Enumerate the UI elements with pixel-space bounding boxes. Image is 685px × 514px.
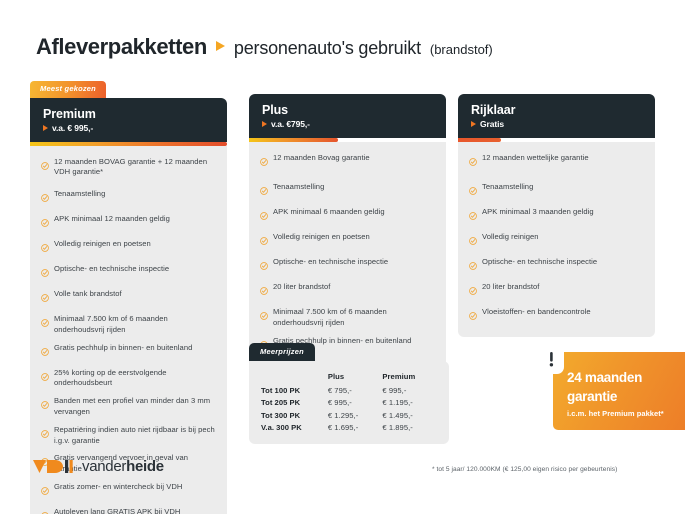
feature-text: Vloeistoffen- en bandencontrole [482,307,591,318]
check-circle-icon [260,207,268,225]
feature-item: Volledig reinigen [469,232,643,250]
check-circle-icon [41,189,49,207]
feature-text: APK minimaal 6 maanden geldig [273,207,385,218]
row-label: V.a. 300 PK [261,421,328,433]
feature-item: Volledig reinigen en poetsen [41,239,215,257]
card-header: Rijklaar Gratis [458,94,655,138]
page-title: Afleverpakketten [36,34,207,60]
check-circle-icon [41,214,49,232]
check-circle-icon [41,368,49,386]
feature-text: Minimaal 7.500 km of 6 maanden onderhoud… [273,307,434,329]
feature-text: Volledig reinigen [482,232,539,243]
feature-text: Tenaamstelling [482,182,533,193]
feature-item: Gratis pechhulp in binnen- en buitenland [41,343,215,361]
footer-logo: vanderheide [33,458,164,475]
feature-text: 20 liter brandstof [482,282,539,293]
guarantee-title-line2: garantie [567,389,675,404]
feature-text: 12 maanden Bovag garantie [273,153,370,164]
page-subtitle-paren: (brandstof) [430,42,493,57]
surcharge-tab-label: Meerprijzen [249,343,315,361]
accent-track [30,142,227,146]
feature-text: 12 maanden wettelijke garantie [482,153,589,164]
feature-text: Tenaamstelling [273,182,324,193]
package-price: v.a. €795,- [271,119,310,129]
table-row: Tot 300 PK€ 1.295,-€ 1.495,- [261,409,437,421]
package-price-row: v.a. € 995,- [43,123,215,133]
vdh-logo-icon [33,458,73,475]
accent-track [249,138,446,142]
package-price: Gratis [480,119,504,129]
feature-item: 12 maanden BOVAG garantie + 12 maanden V… [41,157,215,179]
feature-text: Autoleven lang GRATIS APK bij VDH [54,507,180,514]
logo-wordmark: vanderheide [82,458,164,475]
accent-bar [30,142,227,146]
feature-item: Minimaal 7.500 km of 6 maanden onderhoud… [260,307,434,329]
feature-text: Volledig reinigen en poetsen [54,239,151,250]
check-circle-icon [41,425,49,443]
feature-list: 12 maanden wettelijke garantieTenaamstel… [458,142,655,337]
cell-premium: € 1.495,- [382,409,437,421]
feature-item: Banden met een profiel van minder dan 3 … [41,396,215,418]
most-chosen-ribbon: Meest gekozen [30,81,106,98]
feature-text: Volle tank brandstof [54,289,122,300]
check-circle-icon [41,507,49,514]
package-name: Plus [262,103,434,117]
exclamation-mark-icon [539,344,564,374]
feature-item: 12 maanden wettelijke garantie [469,153,643,171]
surcharge-table: Plus Premium Tot 100 PK€ 795,-€ 995,-Tot… [261,370,437,433]
package-price-row: v.a. €795,- [262,119,434,129]
feature-item: 20 liter brandstof [469,282,643,300]
check-circle-icon [41,264,49,282]
check-circle-icon [469,282,477,300]
page-header: Afleverpakketten personenauto's gebruikt… [36,34,493,60]
cell-plus: € 995,- [328,397,383,409]
check-circle-icon [41,482,49,500]
feature-text: Optische- en technische inspectie [482,257,597,268]
surcharge-table-block: Meerprijzen Plus Premium Tot 100 PK€ 795… [249,341,449,444]
accent-bar [458,138,501,142]
feature-item: Volle tank brandstof [41,289,215,307]
triangle-right-icon [262,121,267,127]
feature-item: Optische- en technische inspectie [260,257,434,275]
logo-word-light: vander [82,458,126,475]
surcharge-table-body: Plus Premium Tot 100 PK€ 795,-€ 995,-Tot… [249,361,449,444]
check-circle-icon [469,257,477,275]
feature-text: Gratis pechhulp in binnen- en buitenland [54,343,192,354]
ribbon-spacer [458,78,655,94]
feature-text: Volledig reinigen en poetsen [273,232,370,243]
feature-item: Volledig reinigen en poetsen [260,232,434,250]
feature-item: Optische- en technische inspectie [469,257,643,275]
check-circle-icon [469,307,477,325]
row-label: Tot 300 PK [261,409,328,421]
ribbon-spacer [249,78,446,94]
cell-premium: € 1.195,- [382,397,437,409]
check-circle-icon [41,396,49,414]
table-header-row: Plus Premium [261,370,437,385]
triangle-right-icon [43,125,48,131]
table-body: Tot 100 PK€ 795,-€ 995,-Tot 205 PK€ 995,… [261,385,437,434]
package-price: v.a. € 995,- [52,123,93,133]
package-price-row: Gratis [471,119,643,129]
accent-track [458,138,655,142]
table-row: Tot 100 PK€ 795,-€ 995,- [261,385,437,397]
cell-plus: € 1.695,- [328,421,383,433]
feature-item: APK minimaal 6 maanden geldig [260,207,434,225]
feature-item: Repatriëring indien auto niet rijdbaar i… [41,425,215,447]
feature-item: Tenaamstelling [41,189,215,207]
check-circle-icon [41,314,49,332]
table-row: Tot 205 PK€ 995,-€ 1.195,- [261,397,437,409]
guarantee-subtitle: i.c.m. het Premium pakket* [567,409,675,418]
cell-premium: € 995,- [382,385,437,397]
feature-text: Optische- en technische inspectie [54,264,169,275]
logo-word-bold: heide [126,458,164,475]
page-subtitle: personenauto's gebruikt [234,38,421,59]
package-name: Rijklaar [471,103,643,117]
check-circle-icon [41,157,49,175]
feature-text: Gratis zomer- en wintercheck bij VDH [54,482,182,493]
check-circle-icon [469,153,477,171]
col-head-plus: Plus [328,370,383,385]
col-head-premium: Premium [382,370,437,385]
package-name: Premium [43,107,215,121]
feature-text: 12 maanden BOVAG garantie + 12 maanden V… [54,157,215,179]
guarantee-title-line1: 24 maanden [567,370,675,385]
check-circle-icon [469,182,477,200]
table-row: V.a. 300 PK€ 1.695,-€ 1.895,- [261,421,437,433]
feature-item: Gratis zomer- en wintercheck bij VDH [41,482,215,500]
card-header: Premium v.a. € 995,- [30,98,227,142]
feature-text: APK minimaal 3 maanden geldig [482,207,594,218]
cell-plus: € 1.295,- [328,409,383,421]
feature-item: Vloeistoffen- en bandencontrole [469,307,643,325]
accent-bar [249,138,338,142]
feature-text: Repatriëring indien auto niet rijdbaar i… [54,425,215,447]
feature-item: Optische- en technische inspectie [41,264,215,282]
check-circle-icon [260,153,268,171]
feature-text: 25% korting op de eerstvolgende onderhou… [54,368,215,390]
feature-item: APK minimaal 3 maanden geldig [469,207,643,225]
package-card-premium[interactable]: Meest gekozen Premium v.a. € 995,- 12 ma… [30,78,227,514]
check-circle-icon [260,182,268,200]
triangle-right-icon [216,41,225,51]
check-circle-icon [260,232,268,250]
check-circle-icon [41,289,49,307]
cell-plus: € 795,- [328,385,383,397]
feature-text: Banden met een profiel van minder dan 3 … [54,396,215,418]
feature-item: 12 maanden Bovag garantie [260,153,434,171]
check-circle-icon [41,343,49,361]
cell-premium: € 1.895,- [382,421,437,433]
col-head-blank [261,370,328,385]
check-circle-icon [260,282,268,300]
poster-root: Afleverpakketten personenauto's gebruikt… [0,0,685,514]
feature-item: APK minimaal 12 maanden geldig [41,214,215,232]
feature-text: Tenaamstelling [54,189,105,200]
row-label: Tot 205 PK [261,397,328,409]
check-circle-icon [260,257,268,275]
check-circle-icon [41,239,49,257]
guarantee-banner: 24 maanden garantie i.c.m. het Premium p… [553,352,685,430]
feature-text: 20 liter brandstof [273,282,330,293]
feature-item: Autoleven lang GRATIS APK bij VDH [41,507,215,514]
footnote-text: * tot 5 jaar/ 120.000KM (€ 125,00 eigen … [432,466,617,473]
feature-item: Tenaamstelling [469,182,643,200]
feature-text: Minimaal 7.500 km of 6 maanden onderhoud… [54,314,215,336]
feature-item: Minimaal 7.500 km of 6 maanden onderhoud… [41,314,215,336]
package-card-rijklaar[interactable]: Rijklaar Gratis 12 maanden wettelijke ga… [458,78,655,337]
feature-item: Tenaamstelling [260,182,434,200]
card-header: Plus v.a. €795,- [249,94,446,138]
feature-text: Optische- en technische inspectie [273,257,388,268]
feature-text: APK minimaal 12 maanden geldig [54,214,170,225]
feature-item: 20 liter brandstof [260,282,434,300]
triangle-right-icon [471,121,476,127]
check-circle-icon [469,207,477,225]
check-circle-icon [469,232,477,250]
check-circle-icon [260,307,268,325]
row-label: Tot 100 PK [261,385,328,397]
feature-item: 25% korting op de eerstvolgende onderhou… [41,368,215,390]
